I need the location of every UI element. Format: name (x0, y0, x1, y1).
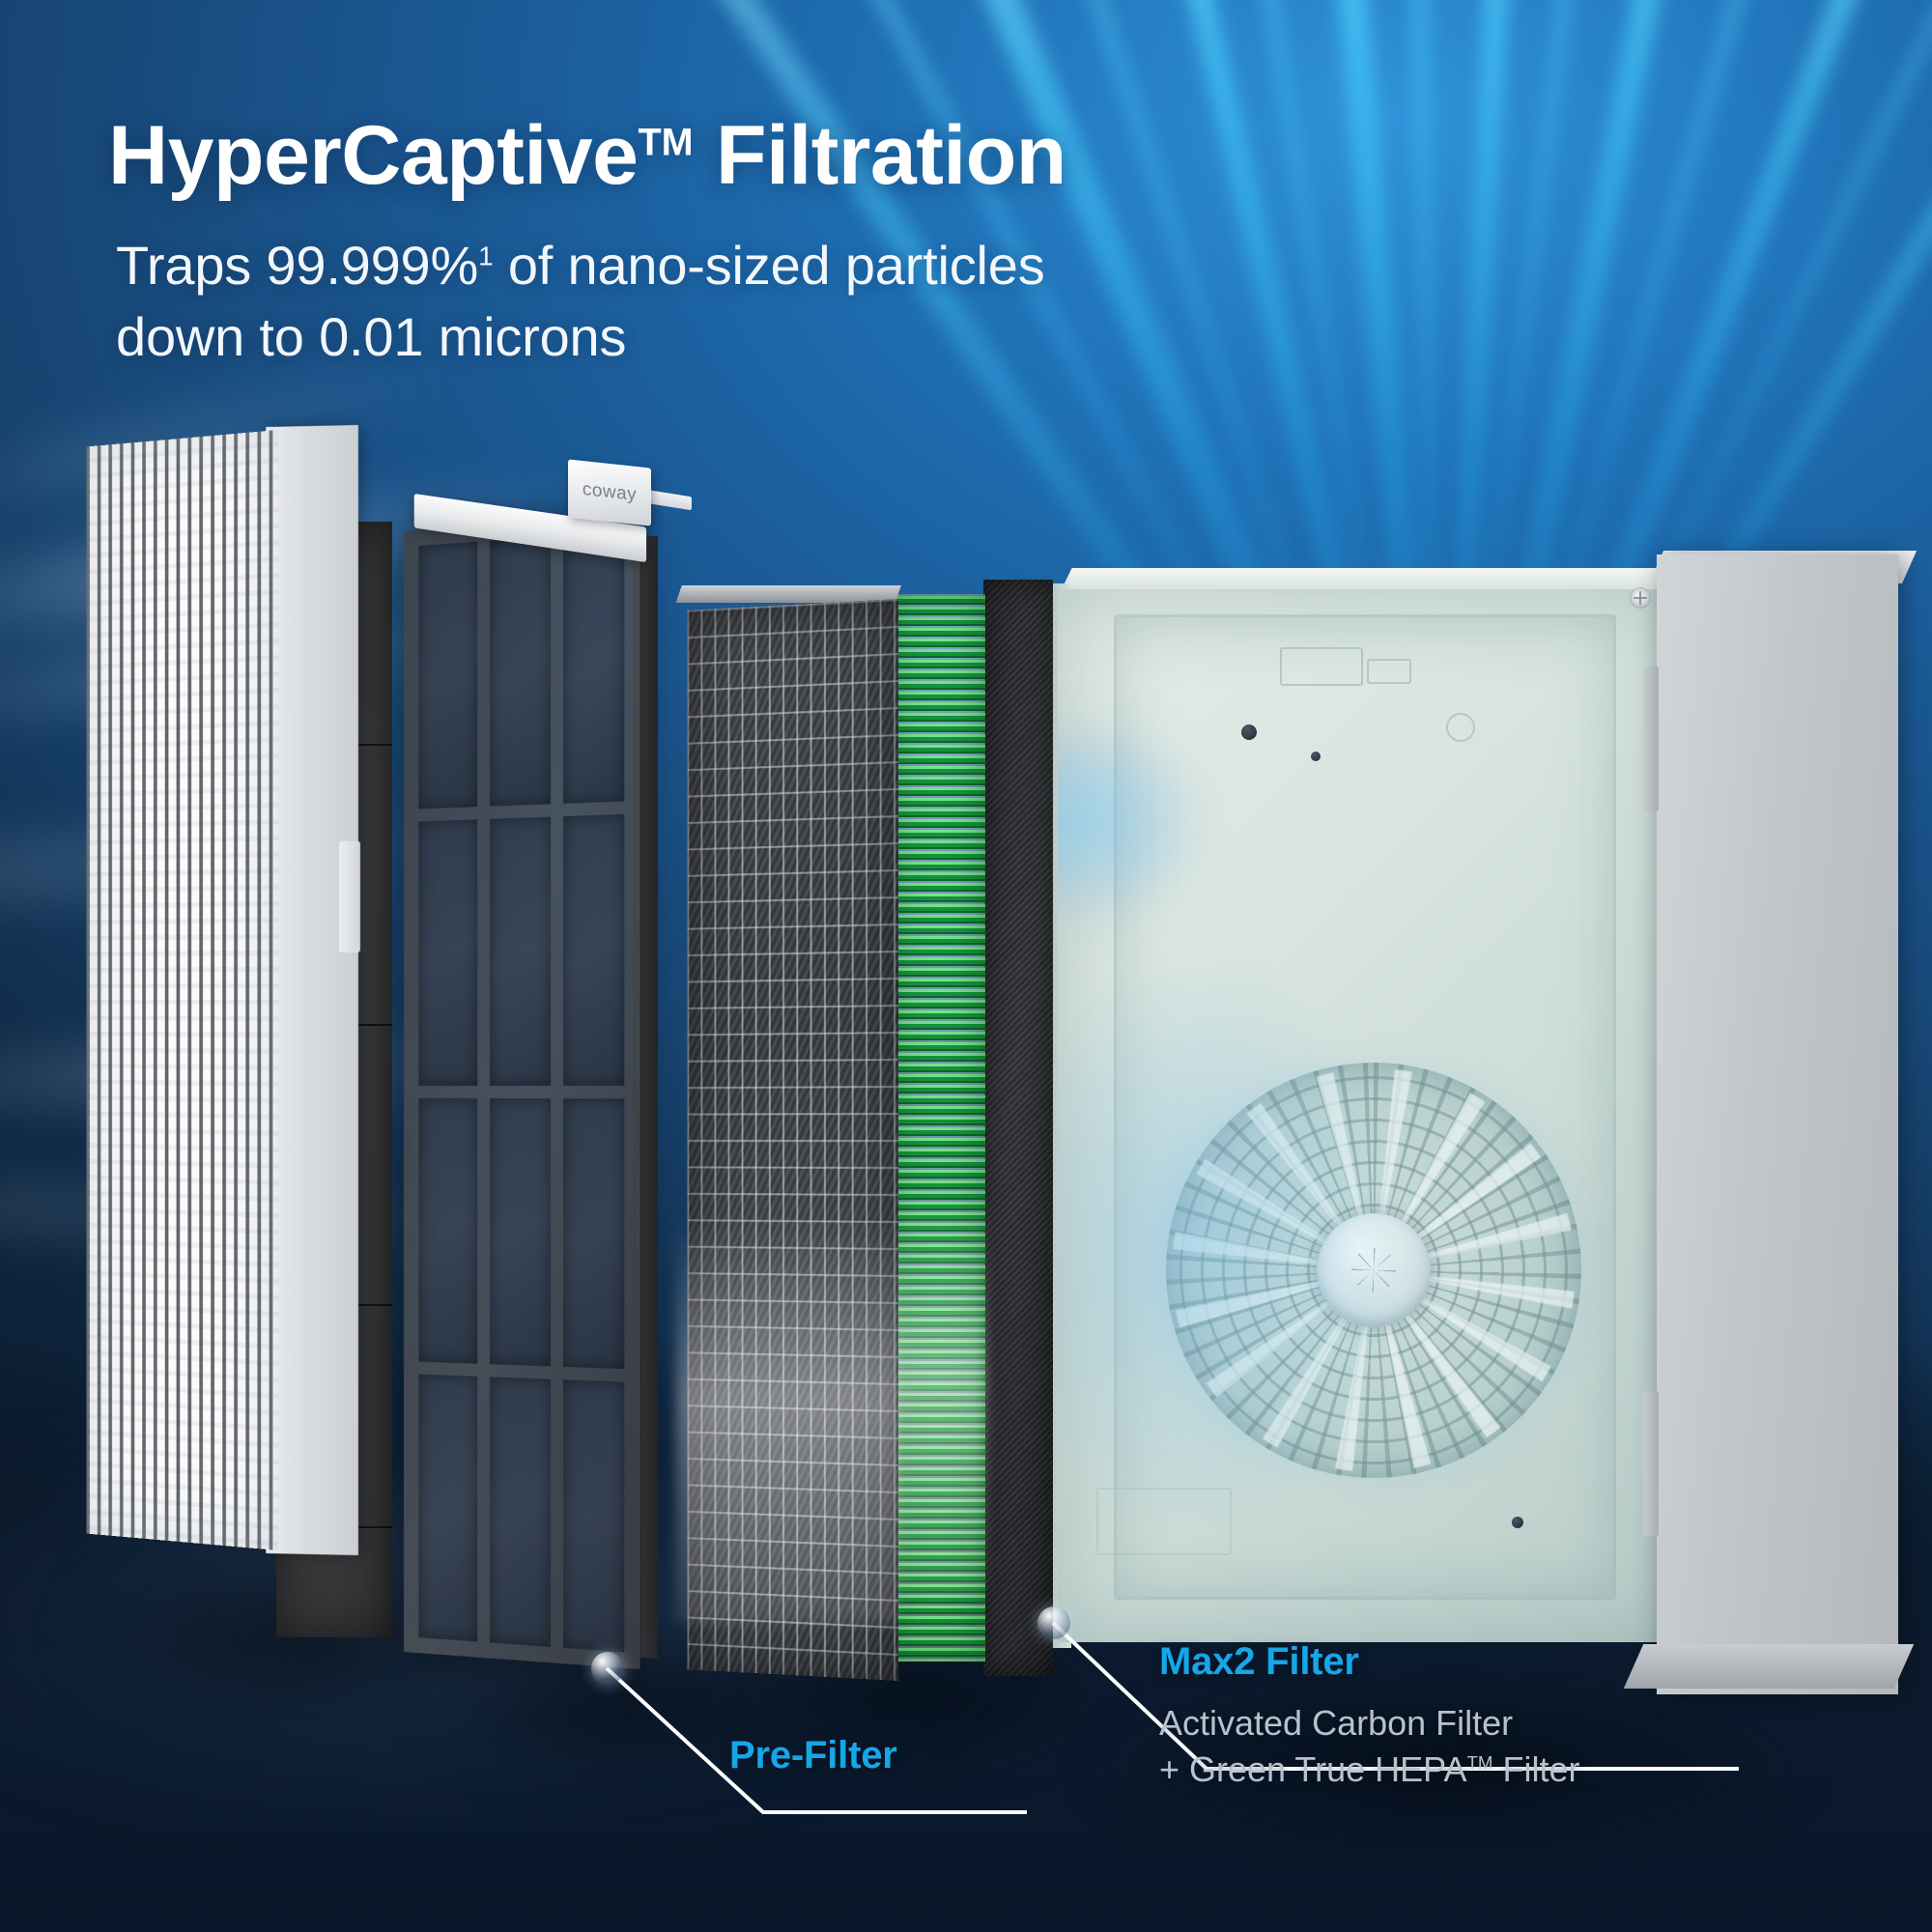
callout-label-pre-filter: Pre-Filter (729, 1734, 897, 1777)
sublabel-hepa-rest: Filter (1493, 1749, 1580, 1789)
callout-dot-pre-filter[interactable] (591, 1652, 624, 1685)
trademark-symbol: TM (1466, 1752, 1492, 1773)
product-feature-graphic: coway HyperCaptiveTM Filtration Traps 99… (0, 0, 1932, 1932)
sublabel-hepa: + Green True HEPA (1159, 1749, 1466, 1789)
sublabel-line-2: + Green True HEPATM Filter (1159, 1749, 1580, 1789)
callout-sublabel-max2: Activated Carbon Filter + Green True HEP… (1159, 1700, 1580, 1793)
callout-dot-max2[interactable] (1037, 1606, 1070, 1639)
callout-leader-lines (0, 0, 1932, 1932)
callout-label-max2: Max2 Filter (1159, 1640, 1359, 1684)
sublabel-line-1: Activated Carbon Filter (1159, 1703, 1513, 1743)
